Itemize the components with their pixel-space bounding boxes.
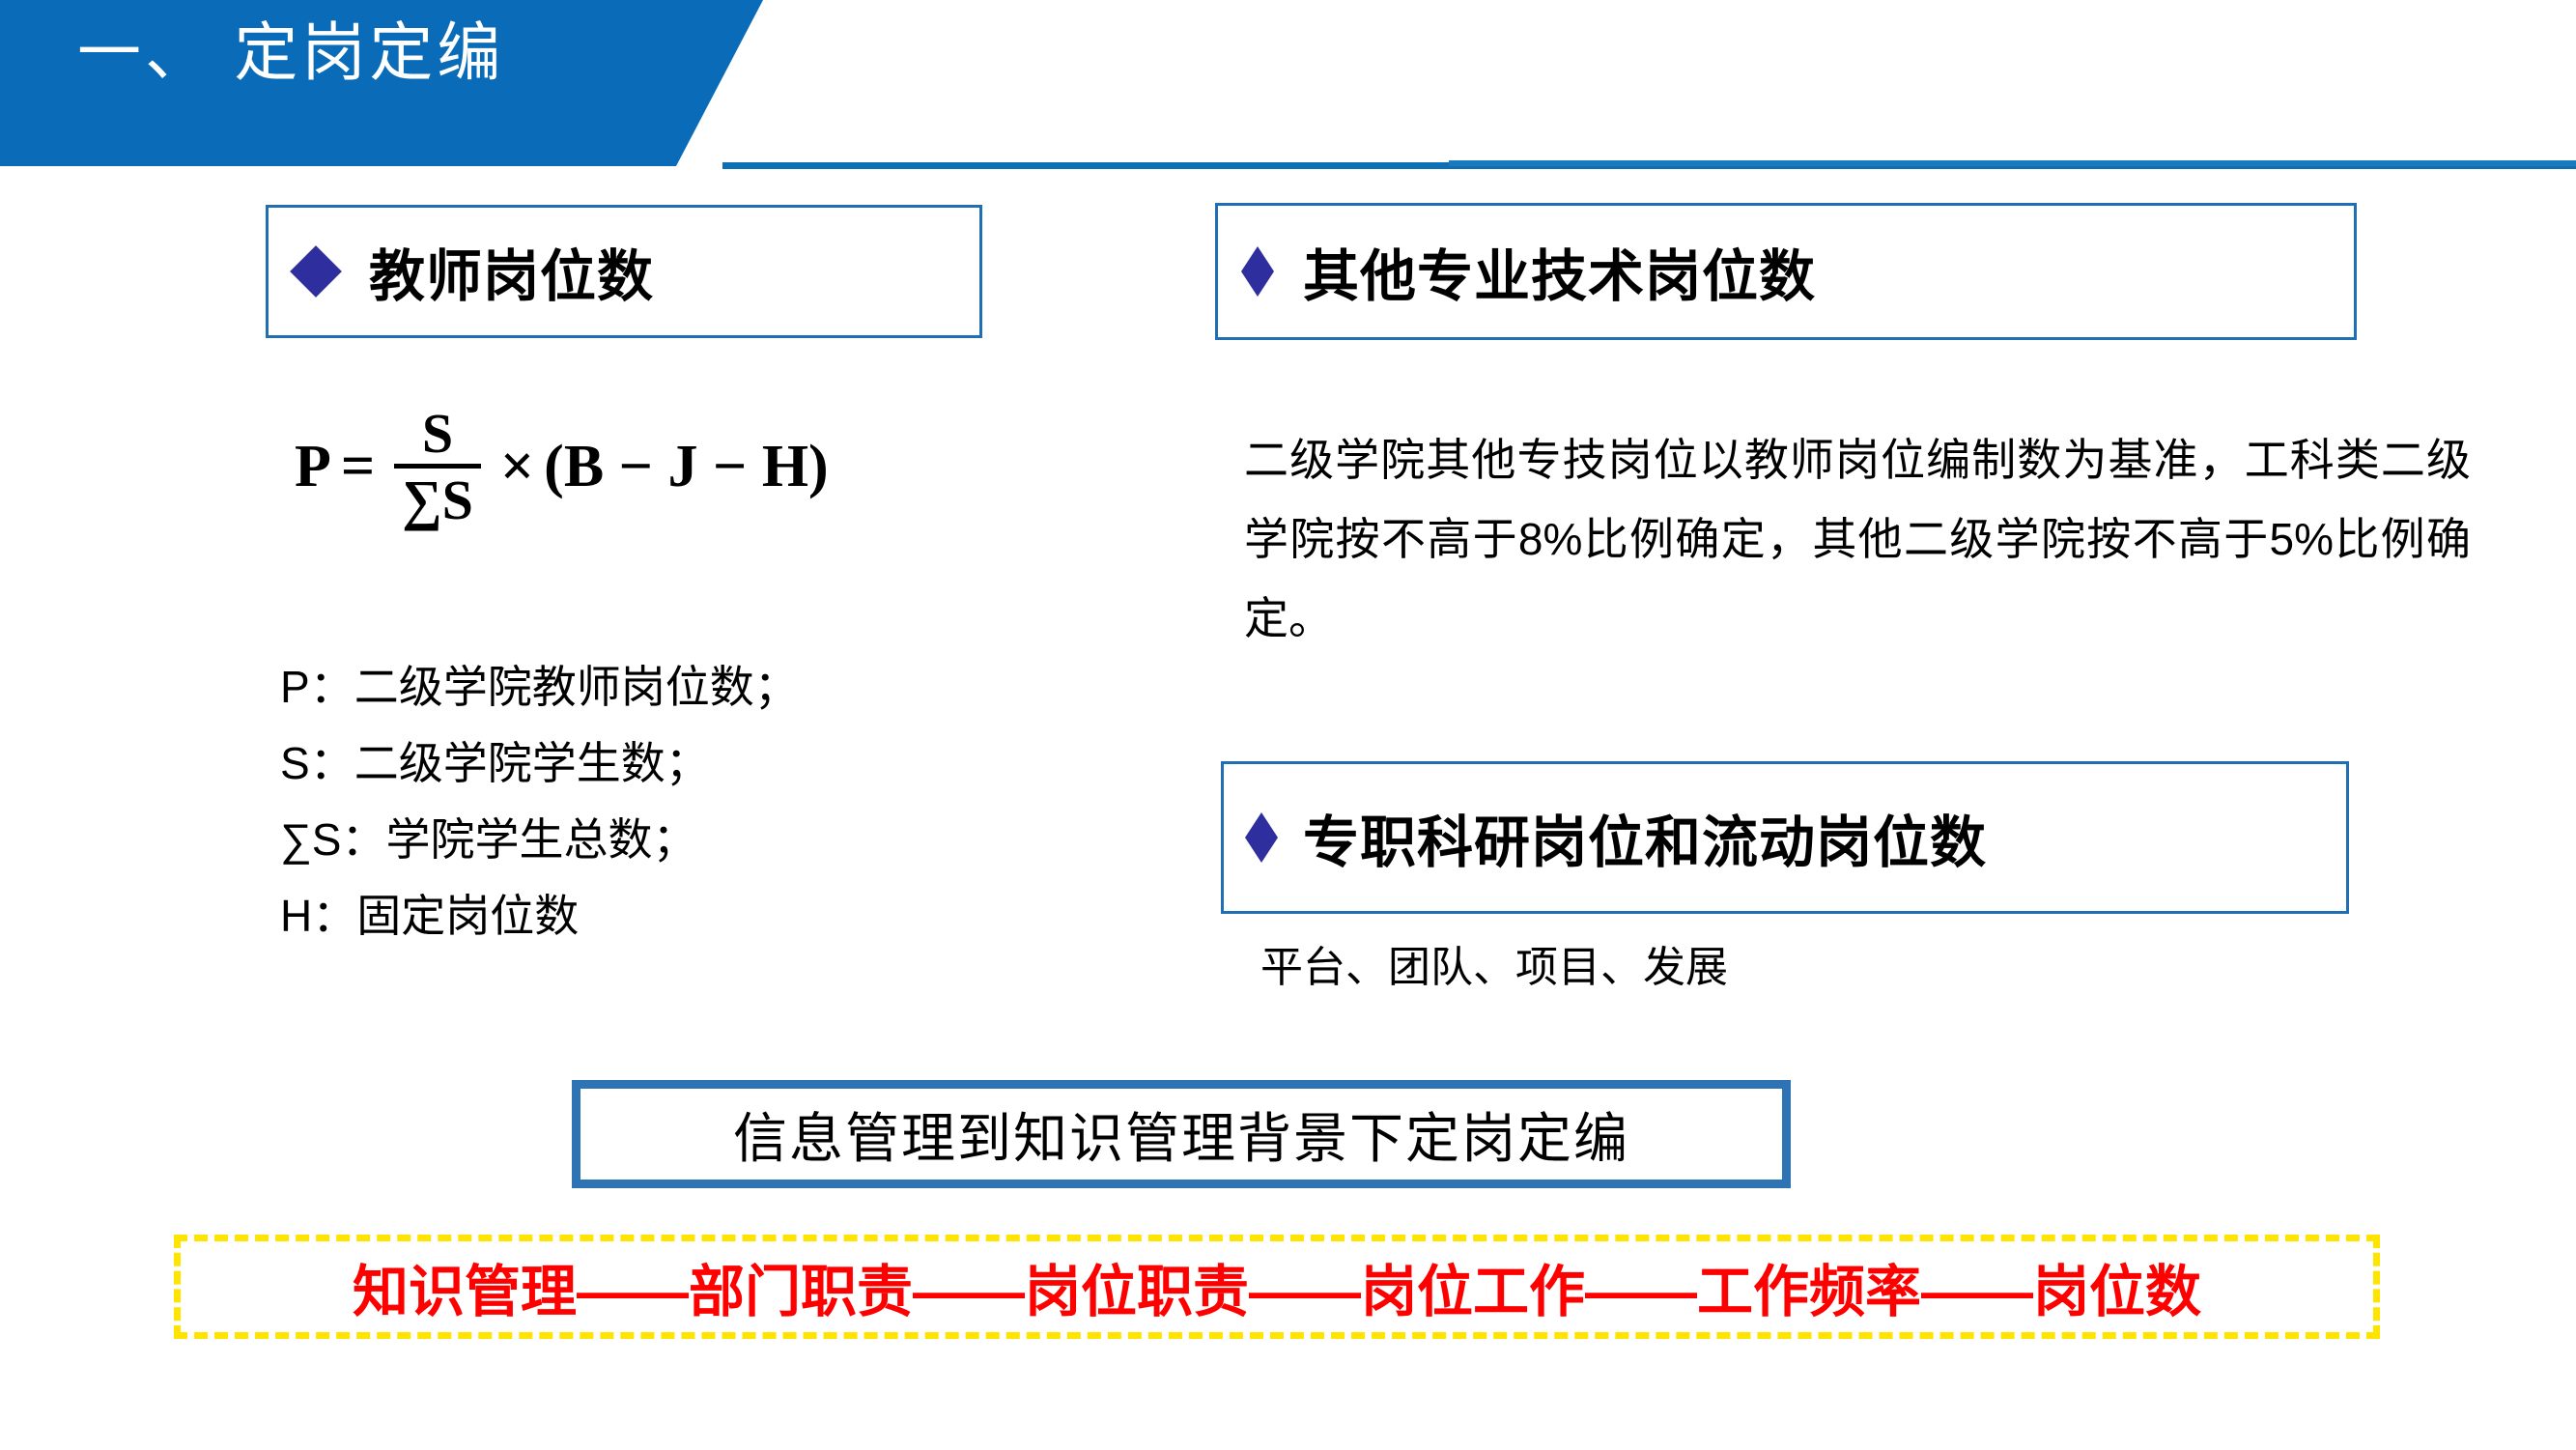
diamond-bullet-icon — [290, 245, 342, 298]
section-header-teacher-positions: 教师岗位数 — [266, 205, 982, 338]
formula-times: × — [500, 433, 534, 501]
variable-colon: ： — [310, 662, 354, 712]
variable-symbol: P — [280, 662, 310, 712]
header-divider-line-secondary — [1449, 160, 2576, 166]
variable-symbol: S — [280, 738, 310, 788]
diamond-bullet-icon — [1241, 246, 1274, 297]
formula-variable-list: P：二级学院教师岗位数； S：二级学院学生数； ∑S：学院学生总数； H：固定岗… — [280, 649, 799, 954]
other-professional-description: 二级学院其他专技岗位以教师岗位编制数为基准，工科类二级学院按不高于8%比例确定，… — [1244, 421, 2471, 659]
diamond-bullet-icon — [1245, 812, 1278, 863]
slide-canvas: 一、 定岗定编 教师岗位数 P = S ∑S × (B − J − H) P：二… — [0, 0, 2576, 1450]
formula-denominator: ∑S — [394, 469, 481, 528]
teacher-position-formula: P = S ∑S × (B − J − H) — [295, 406, 829, 528]
variable-symbol: H — [280, 891, 312, 941]
list-item: S：二级学院学生数； — [280, 725, 799, 802]
formula-rhs: (B − J − H) — [544, 433, 829, 501]
list-item: ∑S：学院学生总数； — [280, 802, 799, 878]
variable-colon: ： — [312, 891, 356, 941]
variable-definition: 学院学生总数； — [385, 814, 696, 865]
summary-callout-box: 信息管理到知识管理背景下定岗定编 — [572, 1080, 1791, 1188]
section-title-label: 专职科研岗位和流动岗位数 — [1303, 797, 1987, 878]
formula-lhs: P — [295, 433, 331, 501]
research-positions-note: 平台、团队、项目、发展 — [1260, 932, 1728, 994]
variable-colon: ： — [341, 814, 385, 865]
page-title: 一、 定岗定编 — [77, 17, 504, 88]
list-item: H：固定岗位数 — [280, 878, 799, 954]
variable-colon: ： — [310, 738, 354, 788]
process-chain-text: 知识管理——部门职责——岗位职责——岗位工作——工作频率——岗位数 — [353, 1246, 2201, 1327]
variable-definition: 二级学院学生数； — [354, 738, 710, 788]
summary-callout-text: 信息管理到知识管理背景下定岗定编 — [733, 1095, 1629, 1174]
formula-numerator: S — [409, 406, 467, 464]
list-item: P：二级学院教师岗位数； — [280, 649, 799, 725]
variable-definition: 固定岗位数 — [356, 891, 579, 941]
formula-fraction: S ∑S — [394, 406, 481, 528]
variable-definition: 二级学院教师岗位数； — [354, 662, 799, 712]
formula-equals: = — [341, 433, 375, 501]
section-header-research-positions: 专职科研岗位和流动岗位数 — [1221, 761, 2349, 914]
process-chain-strip: 知识管理——部门职责——岗位职责——岗位工作——工作频率——岗位数 — [174, 1235, 2380, 1339]
section-title-label: 其他专业技术岗位数 — [1303, 231, 1816, 312]
section-title-label: 教师岗位数 — [369, 231, 654, 312]
section-header-other-professional-positions: 其他专业技术岗位数 — [1215, 203, 2357, 340]
variable-symbol: ∑S — [280, 814, 341, 865]
